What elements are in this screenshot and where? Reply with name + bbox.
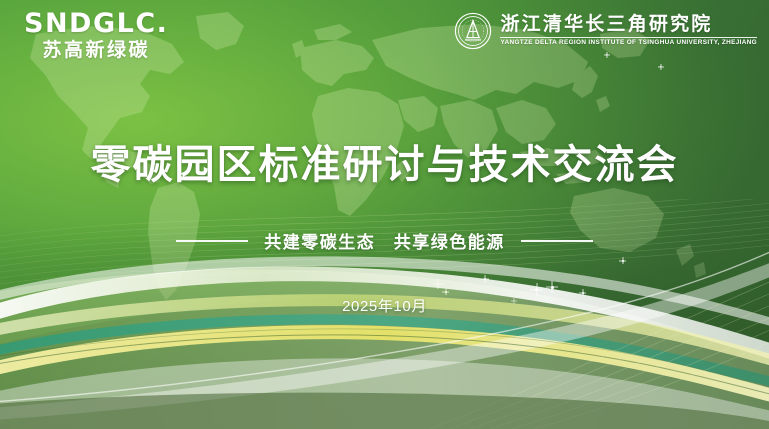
page-subtitle: 共建零碳生态 共享绿色能源 <box>264 228 505 253</box>
institute-name-block: 浙江清华长三角研究院 YANGTZE DELTA REGION INSTITUT… <box>500 15 757 46</box>
page-title: 零碳园区标准研讨与技术交流会 <box>91 132 679 190</box>
tsinghua-seal-icon <box>454 12 492 50</box>
company-logo-left[interactable]: SNDGLC. 苏高新绿碳 <box>24 10 168 60</box>
sparkle-icon <box>606 54 607 55</box>
subtitle-rule-left <box>176 240 248 242</box>
subtitle-rule-right <box>521 240 593 242</box>
logo-wordmark: SNDGLC. <box>24 10 168 37</box>
event-date: 2025年10月 <box>342 295 427 316</box>
institute-name-en: YANGTZE DELTA REGION INSTITUTE OF TSINGH… <box>500 40 757 46</box>
slide-content: 零碳园区标准研讨与技术交流会 共建零碳生态 共享绿色能源 2025年10月 <box>0 132 769 316</box>
presentation-title-slide: SNDGLC. 苏高新绿碳 浙江清华长三角研究院 YANGTZE DELTA R… <box>0 0 769 429</box>
institute-logo-right[interactable]: 浙江清华长三角研究院 YANGTZE DELTA REGION INSTITUT… <box>454 12 757 50</box>
logo-name-cn: 苏高新绿碳 <box>42 41 150 60</box>
subtitle-row: 共建零碳生态 共享绿色能源 <box>176 228 593 253</box>
institute-name-cn: 浙江清华长三角研究院 <box>500 15 757 34</box>
sparkle-icon <box>660 66 661 67</box>
